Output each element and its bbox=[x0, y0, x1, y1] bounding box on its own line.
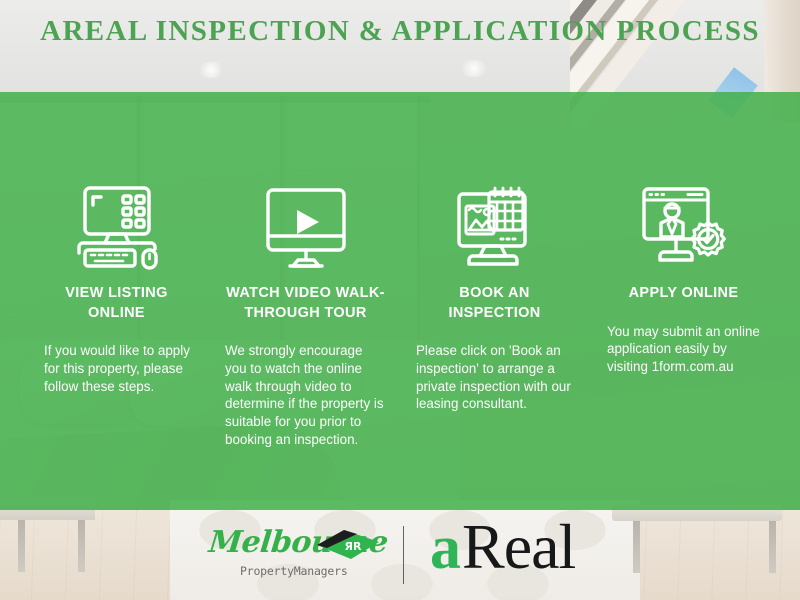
areal-wordmark: Real bbox=[462, 515, 575, 579]
ceiling-light bbox=[196, 62, 226, 78]
step-column-book-inspection: BOOK AN INSPECTION Please click on 'Book… bbox=[400, 92, 589, 510]
step-heading: APPLY ONLINE bbox=[629, 284, 739, 304]
house-roof-diamond-icon: ЯR bbox=[313, 526, 383, 575]
steps-row: VIEW LISTING ONLINE If you would like to… bbox=[0, 92, 800, 510]
step-heading: BOOK AN INSPECTION bbox=[414, 284, 575, 323]
step-body: We strongly encourage you to watch the o… bbox=[225, 342, 386, 448]
step-heading: WATCH VIDEO WALK-THROUGH TOUR bbox=[225, 284, 386, 323]
step-column-apply-online: APPLY ONLINE You may submit an online ap… bbox=[589, 92, 778, 510]
step-column-watch-video: WATCH VIDEO WALK-THROUGH TOUR We strongl… bbox=[211, 92, 400, 510]
melbourne-property-managers-logo[interactable]: Melbourne PropertyManagers ЯR bbox=[206, 523, 381, 587]
step-body: If you would like to apply for this prop… bbox=[36, 342, 197, 395]
video-play-monitor-icon bbox=[260, 180, 352, 276]
step-column-view-listing: VIEW LISTING ONLINE If you would like to… bbox=[22, 92, 211, 510]
areal-accent-letter: a bbox=[430, 517, 461, 579]
desktop-listing-icon bbox=[71, 180, 163, 276]
step-heading: VIEW LISTING ONLINE bbox=[36, 284, 197, 323]
poster-canvas: AREAL INSPECTION & APPLICATION PROCESS bbox=[0, 0, 800, 600]
footer-logos: Melbourne PropertyManagers ЯR a Real bbox=[0, 510, 800, 600]
ceiling-light bbox=[458, 60, 490, 77]
calendar-photo-monitor-icon bbox=[449, 180, 541, 276]
page-title: AREAL INSPECTION & APPLICATION PROCESS bbox=[0, 15, 800, 48]
step-body: You may submit an online application eas… bbox=[603, 323, 764, 376]
areal-logo[interactable]: a Real bbox=[426, 521, 594, 589]
profile-gear-check-icon bbox=[638, 180, 730, 276]
step-body: Please click on 'Book an inspection' to … bbox=[414, 342, 575, 413]
svg-text:ЯR: ЯR bbox=[345, 540, 362, 553]
vertical-divider bbox=[403, 526, 404, 584]
